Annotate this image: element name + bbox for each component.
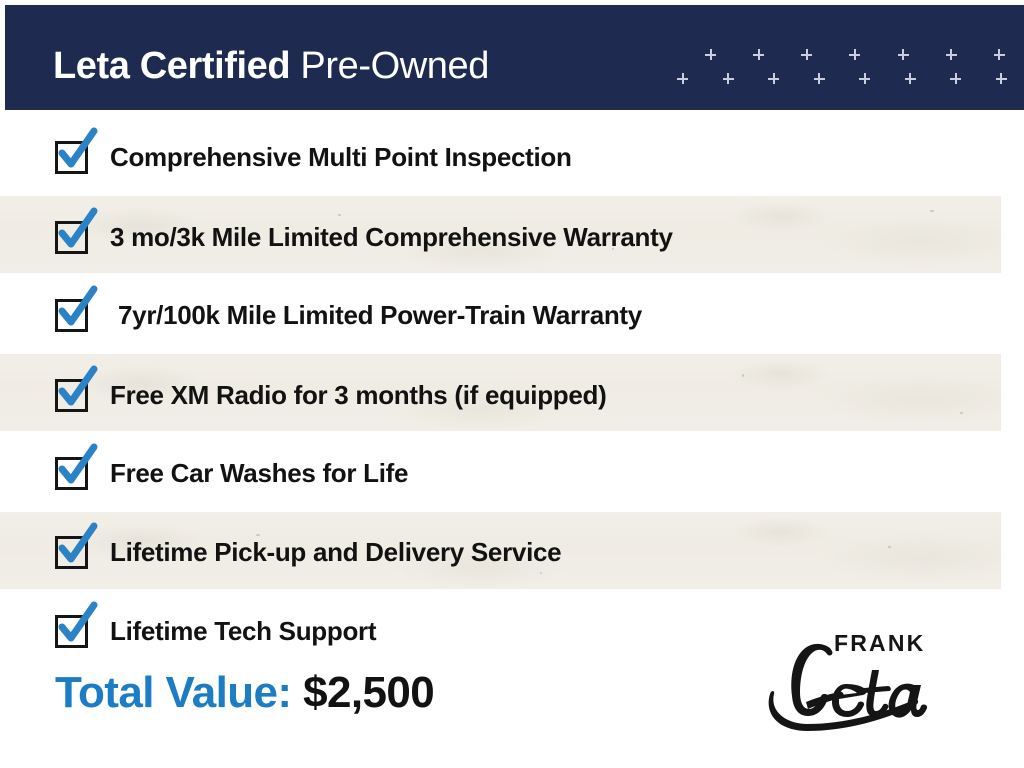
checkmark-icon: [54, 131, 100, 177]
total-value-label: Total Value:: [55, 668, 291, 717]
benefit-checkbox[interactable]: [55, 457, 88, 490]
benefit-row: 3 mo/3k Mile Limited Comprehensive Warra…: [0, 198, 1024, 276]
plus-decoration-icon: [753, 49, 764, 60]
plus-decoration-icon: [677, 73, 688, 84]
plus-decoration-icon: [705, 49, 716, 60]
plus-decoration-icon: [723, 73, 734, 84]
benefit-checkbox[interactable]: [55, 299, 88, 332]
plus-decoration-icon: [996, 73, 1007, 84]
checkmark-icon: [54, 369, 100, 415]
plus-decoration-icon: [849, 49, 860, 60]
total-value-amount: $2,500: [303, 668, 434, 717]
checkmark-icon: [54, 211, 100, 257]
page-title-light: Pre-Owned: [300, 45, 489, 87]
benefit-label: Free XM Radio for 3 months (if equipped): [110, 380, 606, 411]
plus-decoration-icon: [950, 73, 961, 84]
benefit-row: Free Car Washes for Life: [0, 434, 1024, 512]
plus-decoration-icon: [994, 49, 1005, 60]
benefit-row: Comprehensive Multi Point Inspection: [0, 118, 1024, 196]
plus-decoration-icon: [898, 49, 909, 60]
benefit-label: 3 mo/3k Mile Limited Comprehensive Warra…: [110, 222, 673, 253]
frank-leta-logo: FRANK: [768, 624, 968, 734]
benefit-row: Free XM Radio for 3 months (if equipped): [0, 356, 1024, 434]
benefit-checkbox[interactable]: [55, 221, 88, 254]
total-value-line: Total Value: $2,500: [55, 668, 434, 718]
benefit-label: Lifetime Tech Support: [110, 616, 376, 647]
checkmark-icon: [54, 605, 100, 651]
plus-decoration-icon: [859, 73, 870, 84]
plus-pattern-decoration: [677, 49, 1017, 97]
plus-decoration-icon: [905, 73, 916, 84]
checkmark-icon: [54, 447, 100, 493]
logo-leta-script: [768, 636, 968, 732]
certified-pre-owned-flyer: Leta Certified Pre-Owned: [0, 0, 1024, 768]
plus-decoration-icon: [814, 73, 825, 84]
benefit-label: 7yr/100k Mile Limited Power-Train Warran…: [118, 300, 642, 331]
benefit-label: Lifetime Pick-up and Delivery Service: [110, 537, 561, 568]
benefit-checkbox[interactable]: [55, 141, 88, 174]
checkmark-icon: [54, 289, 100, 335]
page-title: Leta Certified Pre-Owned: [53, 45, 489, 88]
page-title-strong: Leta Certified: [53, 45, 290, 87]
plus-decoration-icon: [946, 49, 957, 60]
benefit-label: Comprehensive Multi Point Inspection: [110, 142, 572, 173]
plus-decoration-icon: [768, 73, 779, 84]
plus-decoration-icon: [801, 49, 812, 60]
plus-row-bottom: [677, 73, 1007, 84]
benefit-checkbox[interactable]: [55, 379, 88, 412]
plus-row-top: [705, 49, 1005, 60]
benefit-checkbox[interactable]: [55, 536, 88, 569]
benefit-row: 7yr/100k Mile Limited Power-Train Warran…: [0, 276, 1024, 354]
benefit-checkbox[interactable]: [55, 615, 88, 648]
checkmark-icon: [54, 526, 100, 572]
benefit-label: Free Car Washes for Life: [110, 458, 408, 489]
header-banner: Leta Certified Pre-Owned: [5, 5, 1024, 110]
benefit-row: Lifetime Pick-up and Delivery Service: [0, 513, 1024, 591]
